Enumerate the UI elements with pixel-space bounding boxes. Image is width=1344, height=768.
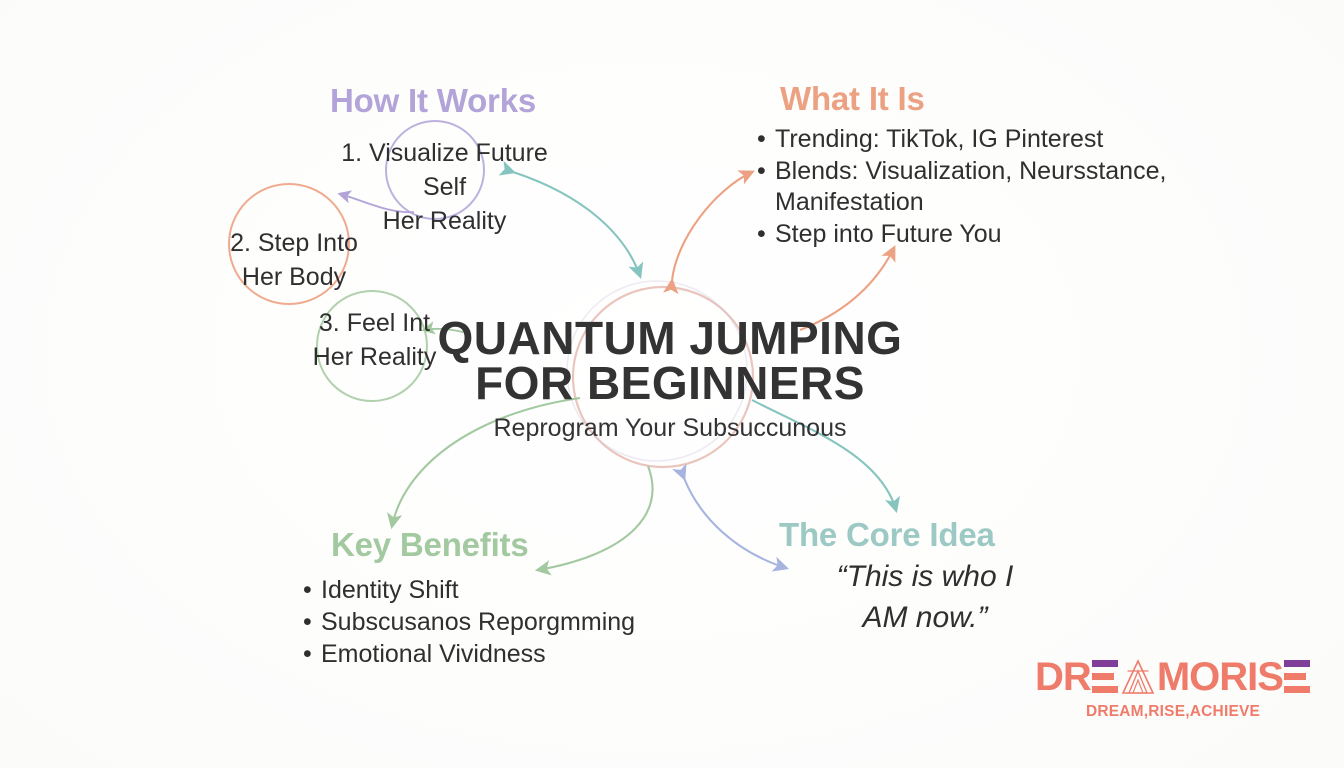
logo-e-glyph-left <box>1092 660 1118 694</box>
list-item: •Blends: Visualization, Neursstance, Man… <box>757 156 1157 219</box>
list-item-text: Blends: Visualization, Neursstance, <box>775 157 1166 185</box>
what-it-is-bullet-list: •Trending: TikTok, IG Pinterest •Blends:… <box>757 124 1157 250</box>
step-1-line-2: Her Reality <box>383 207 507 235</box>
bullet-icon: • <box>303 606 321 638</box>
infographic-canvas: How It Works 1. Visualize Future Self He… <box>0 0 1344 768</box>
logo-tagline: DREAM,RISE,ACHIEVE <box>1028 703 1318 721</box>
list-item-text: Emotional Vividness <box>321 640 546 668</box>
arrow-green-center-keybenefits-right <box>538 466 653 570</box>
list-item: •Step into Future You <box>757 219 1157 251</box>
step-1-line-1: 1. Visualize Future Self <box>341 139 548 201</box>
core-idea-quote: “This is who I AM now.” <box>760 556 1090 638</box>
list-item: •Trending: TikTok, IG Pinterest <box>757 124 1157 156</box>
logo-wordmark: DR MORIS <box>1028 655 1318 699</box>
step-2-line-1: 2. Step Into <box>230 229 358 257</box>
bullet-icon: • <box>757 124 775 156</box>
core-idea-heading: The Core Idea <box>779 516 995 554</box>
arrow-periwinkle-center-coreidea <box>684 478 786 568</box>
bullet-icon: • <box>303 574 321 606</box>
step-1-label: 1. Visualize Future Self Her Reality <box>322 136 567 238</box>
list-item-text: Step into Future You <box>775 220 1002 248</box>
page-title: QUANTUM JUMPING FOR BEGINNERS <box>400 316 940 406</box>
how-it-works-heading: How It Works <box>330 82 536 120</box>
page-subtitle: Reprogram Your Subsuccunous <box>400 414 940 443</box>
logo-letters-dr: DR <box>1035 657 1091 697</box>
list-item-text: Trending: TikTok, IG Pinterest <box>775 125 1103 153</box>
arrow-coral-center-whatitis <box>672 172 752 281</box>
key-benefits-bullet-list: •Identity Shift •Subscusanos Reporgmming… <box>303 574 703 670</box>
core-idea-quote-line-2: AM now.” <box>862 601 987 634</box>
key-benefits-heading: Key Benefits <box>331 526 529 564</box>
brand-logo: DR MORIS DREAM,RISE,ACHIEVE <box>1028 655 1318 721</box>
page-title-line-2: FOR BEGINNERS <box>475 357 865 409</box>
step-2-line-2: Her Body <box>242 263 346 291</box>
what-it-is-heading: What It Is <box>780 80 925 118</box>
list-item-text: Identity Shift <box>321 576 459 604</box>
bullet-icon: • <box>757 156 775 188</box>
list-item-text-wrap: Manifestation <box>757 187 1157 219</box>
list-item: •Identity Shift <box>303 574 703 606</box>
core-idea-quote-line-1: “This is who I <box>837 560 1014 593</box>
list-item-text: Subscusanos Reporgmming <box>321 608 635 636</box>
logo-a-triangle-icon <box>1121 659 1155 695</box>
bullet-icon: • <box>303 638 321 670</box>
list-item: •Emotional Vividness <box>303 638 703 670</box>
step-2-label: 2. Step Into Her Body <box>215 226 373 294</box>
list-item: •Subscusanos Reporgmming <box>303 606 703 638</box>
logo-letters-moris: MORIS <box>1157 657 1283 697</box>
bullet-icon: • <box>757 219 775 251</box>
logo-e-glyph-right <box>1284 660 1310 694</box>
